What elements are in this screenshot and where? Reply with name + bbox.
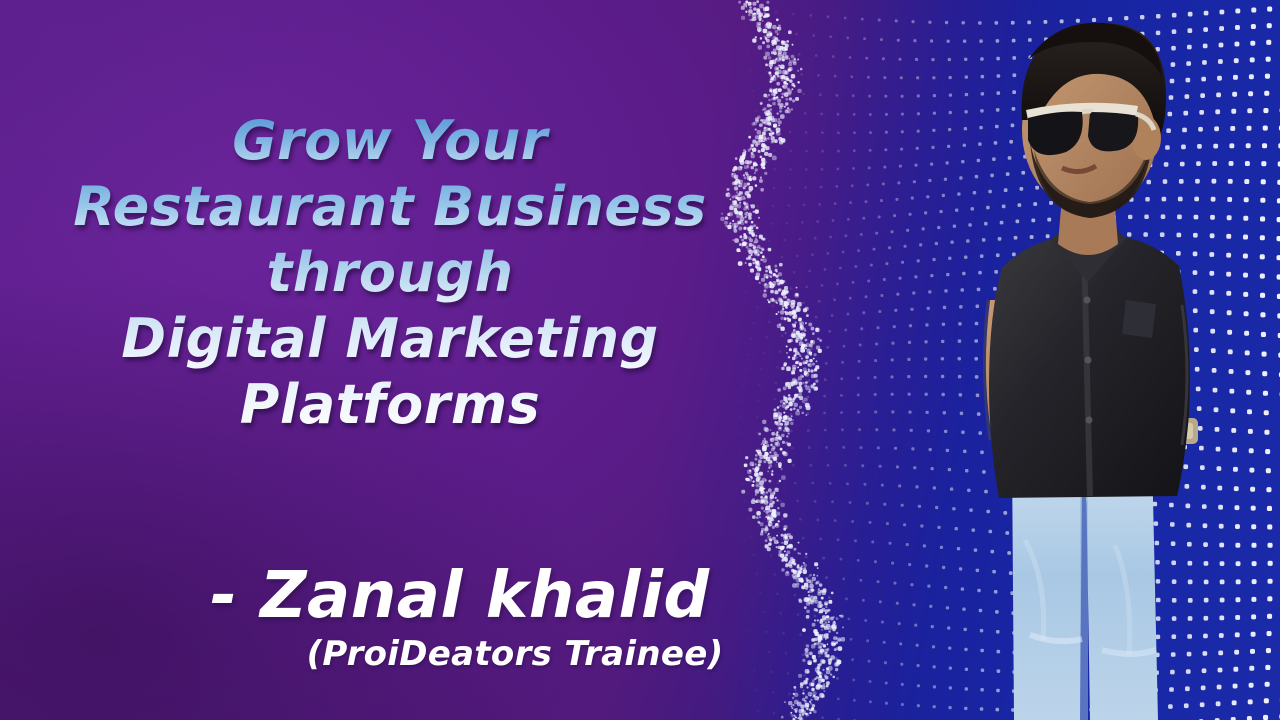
attribution-block: - Zanal khalid (ProiDeators Trainee) — [30, 560, 890, 676]
headline-line-1: Grow Your — [30, 108, 750, 174]
promotional-poster: Grow Your Restaurant Business through Di… — [0, 0, 1280, 720]
headline-line-5: Platforms — [30, 372, 750, 438]
headline-line-2: Restaurant Business — [30, 174, 750, 240]
page-title: Grow Your Restaurant Business through Di… — [30, 108, 750, 438]
author-name: - Zanal khalid — [30, 560, 890, 632]
author-role: (ProiDeators Trainee) — [30, 632, 890, 676]
headline-line-3: through — [30, 240, 750, 306]
headline-line-4: Digital Marketing — [30, 306, 750, 372]
